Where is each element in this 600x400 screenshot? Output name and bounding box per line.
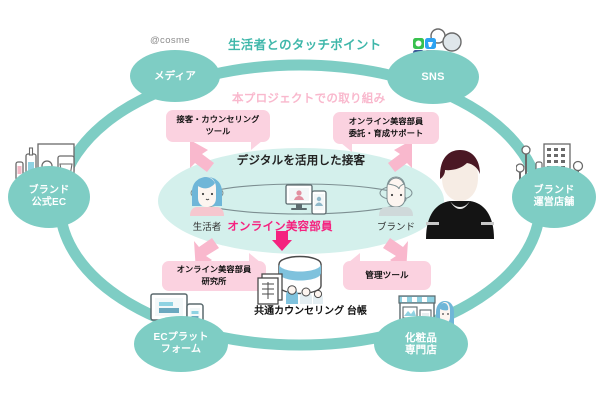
ledger-caption-line2: 台帳 [347,306,367,317]
callout-counseling-tool[interactable]: 接客・カウンセリング ツール [166,110,270,142]
node-sns[interactable]: SNS [387,50,479,104]
node-media-label: メディア [154,70,196,82]
node-ec-platform-line2: フォーム [161,344,202,356]
node-specialty-store[interactable]: 化粧品 専門店 [374,316,468,372]
callout-counseling-line2: ツール [206,126,231,138]
callout-bk-support[interactable]: オンライン美容部員 委託・育成サポート [333,112,439,144]
ledger-caption-line1: 共通カウンセリング [254,306,344,317]
arrow-top-right [388,140,412,172]
ledger-caption: 共通カウンセリング 台帳 [238,305,383,318]
heading-touchpoint: 生活者とのタッチポイント [228,34,381,53]
at-cosme-icon: @cosme [150,35,190,46]
arrow-top-left [190,140,214,172]
node-specialty-line1: 化粧品 [405,332,437,344]
beauty-staff-person-icon [424,144,496,239]
node-ec-platform[interactable]: ECプラット フォーム [134,316,228,372]
node-specialty-line2: 専門店 [405,344,437,356]
callout-lab-line2: 研究所 [202,276,227,288]
callout-tail-icon [251,141,262,150]
callout-admin-tool[interactable]: 管理ツール [343,261,431,290]
counseling-ledger-icon [256,252,344,308]
node-sns-label: SNS [421,71,444,84]
node-brand-ec-line1: ブランド [29,185,70,197]
heading-project: 本プロジェクトでの取り組み [232,90,385,106]
node-brand-shop[interactable]: ブランド 運営店舗 [512,166,596,228]
callout-bk-lab[interactable]: オンライン美容部員 研究所 [162,261,266,291]
callout-admin-line1: 管理ツール [365,269,408,281]
node-media[interactable]: メディア [130,50,220,102]
callout-counseling-line1: 接客・カウンセリング [177,114,260,126]
callout-tail-icon [349,253,360,262]
node-brand-ec-line2: 公式EC [32,197,67,209]
node-brand-shop-line1: ブランド [534,185,575,197]
callout-support-line1: オンライン美容部員 [349,116,424,128]
callout-lab-line1: オンライン美容部員 [177,264,252,276]
pink-inflow-arrows [0,0,600,400]
node-ec-platform-line1: ECプラット [153,332,208,344]
node-brand-official-ec[interactable]: ブランド 公式EC [8,166,90,228]
diagram-canvas: デジタルを活用した接客 生活者 ブランド オンライン美容部員 [0,0,600,400]
node-brand-shop-line2: 運営店舗 [534,197,575,209]
callout-tail-icon [341,143,352,152]
callout-support-line2: 委託・育成サポート [349,128,424,140]
